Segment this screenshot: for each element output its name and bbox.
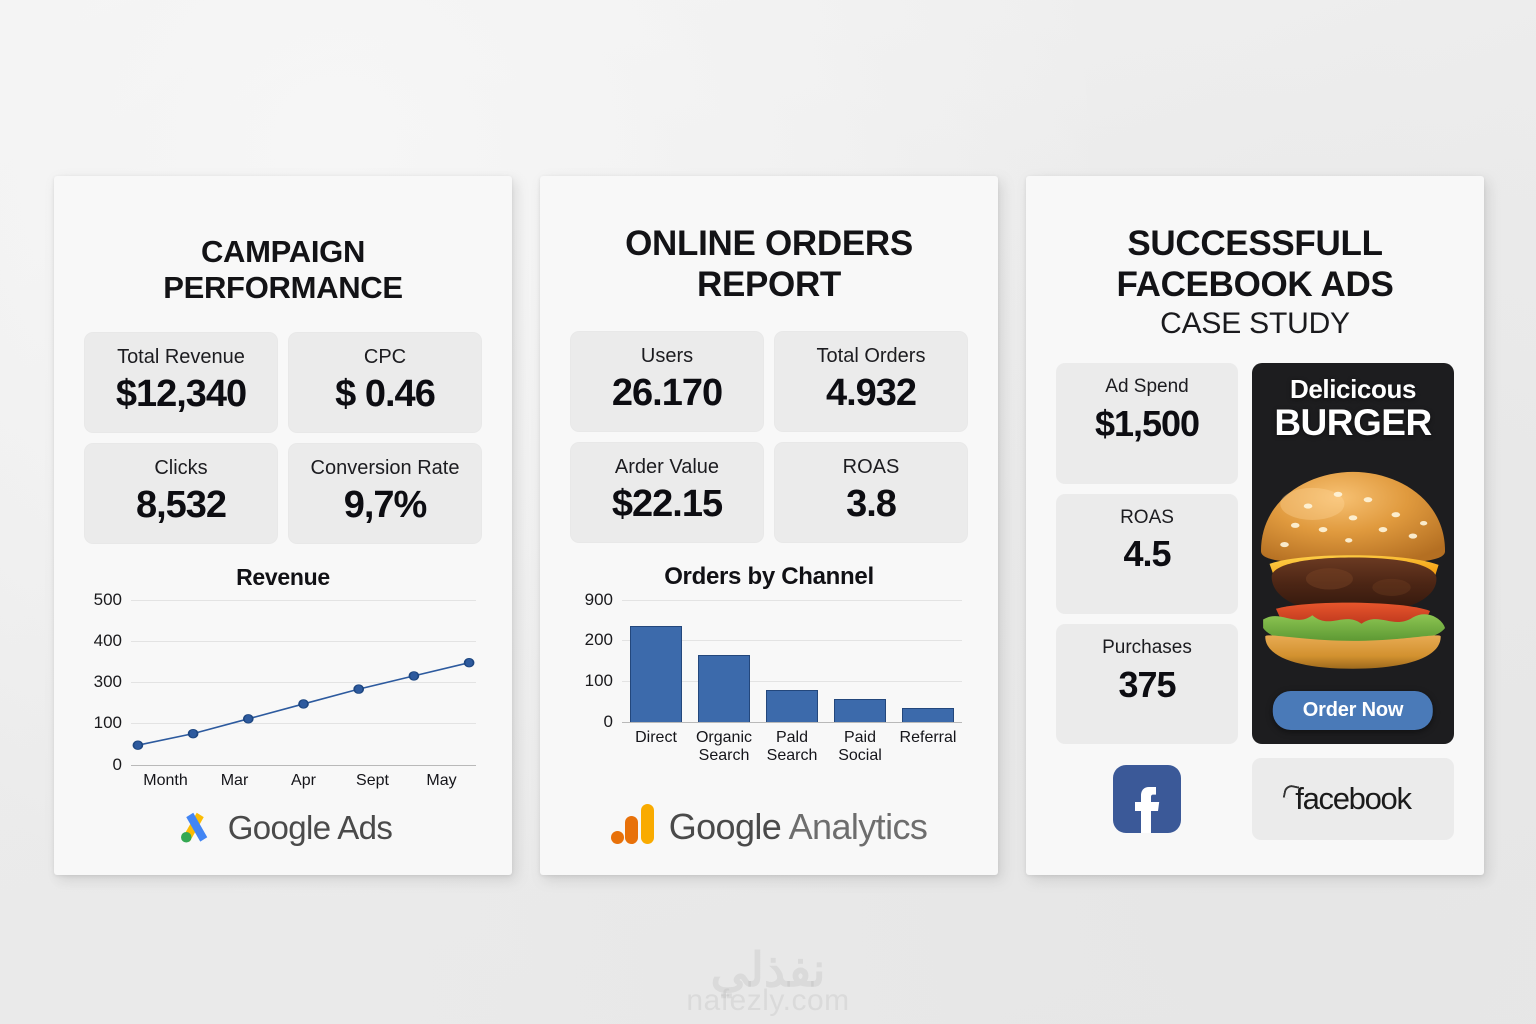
title-line-2: FACEBOOK ADS — [1116, 265, 1393, 304]
x-axis-tick: Apr — [269, 772, 338, 790]
facebook-wordmark-tile: facebook — [1252, 758, 1454, 840]
brand-label-light: Analytics — [781, 806, 927, 847]
kpi-grid-campaign: Total Revenue $12,340 CPC $ 0.46 Clicks … — [84, 332, 482, 544]
ad-headline-large: BURGER — [1274, 403, 1431, 444]
bar-slot — [894, 600, 962, 722]
kpi-roas: ROAS 4.5 — [1056, 494, 1238, 614]
brand-google-ads: Google Ads — [84, 804, 482, 861]
data-point — [409, 671, 418, 680]
kpi-clicks: Clicks 8,532 — [84, 443, 278, 544]
bar-slot — [690, 600, 758, 722]
bar-slot — [622, 600, 690, 722]
ad-headline-small: Delicicous — [1290, 376, 1416, 402]
watermark-latin: nafezly.com — [0, 984, 1536, 1018]
ad-creative-preview: Delicicous BURGER — [1252, 363, 1454, 744]
x-axis-tick: Sept — [338, 772, 407, 790]
x-axis-tick: Referral — [894, 729, 962, 765]
y-axis-tick: 500 — [94, 590, 131, 610]
bar-plot-area: 9002001000 — [622, 600, 962, 722]
revenue-line-chart: Revenue 5004003001000 MonthMarAprSeptMay — [84, 564, 482, 805]
chart-title: Revenue — [84, 564, 482, 591]
y-axis-tick: 300 — [94, 672, 131, 692]
x-axis-tick: OrganicSearch — [690, 729, 758, 765]
data-point — [133, 740, 142, 749]
x-axis-tick: May — [407, 772, 476, 790]
brand-label-bold: Google — [669, 806, 782, 847]
google-analytics-icon — [611, 802, 657, 851]
kpi-label: ROAS — [1062, 507, 1232, 530]
kpi-value: 4.5 — [1062, 534, 1232, 574]
kpi-value: $1,500 — [1062, 404, 1232, 444]
bar — [630, 626, 682, 722]
kpi-value: $ 0.46 — [294, 374, 476, 416]
kpi-value: $22.15 — [576, 484, 758, 526]
facebook-wordmark: facebook — [1295, 781, 1410, 817]
brand-google-analytics: Google Analytics — [570, 802, 968, 861]
bar-slot — [826, 600, 894, 722]
kpi-label: Ad Spend — [1062, 376, 1232, 399]
bar — [766, 690, 818, 722]
orders-bar-chart: Orders by Channel 9002001000 DirectOrgan… — [570, 563, 968, 802]
kpi-value: 375 — [1062, 665, 1232, 705]
card-online-orders-report: ONLINE ORDERS REPORT Users 26.170 Total … — [540, 176, 998, 875]
kpi-cpc: CPC $ 0.46 — [288, 332, 482, 433]
watermark: نفذلي nafezly.com — [0, 945, 1536, 1018]
kpi-value: 4.932 — [780, 373, 962, 415]
gridline: 0 — [622, 722, 962, 723]
kpi-label: Purchases — [1062, 637, 1232, 660]
kpi-value: 3.8 — [780, 484, 962, 526]
data-point — [465, 658, 474, 667]
kpi-roas: ROAS 3.8 — [774, 442, 968, 543]
x-axis-tick: Direct — [622, 729, 690, 765]
line-markers — [131, 600, 476, 765]
dashboard-cards-row: CAMPAIGN PERFORMANCE Total Revenue $12,3… — [54, 176, 1484, 876]
kpi-value: $12,340 — [90, 374, 272, 416]
y-axis-tick: 0 — [113, 755, 131, 775]
kpi-order-value: Arder Value $22.15 — [570, 442, 764, 543]
data-point — [299, 699, 308, 708]
order-now-button[interactable]: Order Now — [1273, 691, 1433, 730]
brand-label: Google Ads — [228, 809, 393, 847]
page-title: CAMPAIGN PERFORMANCE — [84, 234, 482, 306]
burger-photo — [1252, 459, 1454, 673]
title-line-1: ONLINE ORDERS — [625, 224, 913, 263]
facebook-footer: facebook — [1056, 758, 1454, 840]
google-ads-icon — [174, 804, 216, 851]
x-axis-tick: PaldSearch — [758, 729, 826, 765]
bar-slot — [758, 600, 826, 722]
bar-series — [622, 600, 962, 722]
kpi-conversion-rate: Conversion Rate 9,7% — [288, 443, 482, 544]
kpi-column-facebook: Ad Spend $1,500 ROAS 4.5 Purchases 375 — [1056, 363, 1238, 744]
kpi-label: Users — [576, 344, 758, 368]
data-point — [354, 684, 363, 693]
title-line-1: SUCCESSFULL — [1127, 224, 1382, 263]
page-title: SUCCESSFULL FACEBOOK ADS — [1056, 224, 1454, 305]
kpi-purchases: Purchases 375 — [1056, 624, 1238, 744]
kpi-label: Clicks — [90, 456, 272, 480]
kpi-label: Arder Value — [576, 455, 758, 479]
y-axis-tick: 0 — [604, 712, 622, 732]
y-axis-tick: 100 — [585, 671, 622, 691]
kpi-users: Users 26.170 — [570, 331, 764, 432]
bar-x-axis-labels: DirectOrganicSearchPaldSearchPaidSocialR… — [622, 729, 962, 765]
kpi-label: Conversion Rate — [294, 456, 476, 480]
bar — [834, 699, 886, 721]
data-point — [244, 714, 253, 723]
facebook-logo-icon — [1111, 763, 1183, 835]
y-axis-tick: 900 — [585, 590, 622, 610]
kpi-total-revenue: Total Revenue $12,340 — [84, 332, 278, 433]
gridline: 0 — [131, 765, 476, 766]
x-axis-tick: PaidSocial — [826, 729, 894, 765]
x-axis-tick: Month — [131, 772, 200, 790]
kpi-label: Total Orders — [780, 344, 962, 368]
kpi-total-orders: Total Orders 4.932 — [774, 331, 968, 432]
bar — [698, 655, 750, 722]
y-axis-tick: 200 — [585, 630, 622, 650]
y-axis-tick: 100 — [94, 713, 131, 733]
kpi-label: CPC — [294, 345, 476, 369]
line-plot-area: 5004003001000 — [131, 600, 476, 765]
kpi-value: 9,7% — [294, 485, 476, 527]
card-campaign-performance: CAMPAIGN PERFORMANCE Total Revenue $12,3… — [54, 176, 512, 875]
bar — [902, 708, 954, 721]
kpi-label: Total Revenue — [90, 345, 272, 369]
page-subtitle: CASE STUDY — [1056, 307, 1454, 341]
chart-title: Orders by Channel — [570, 563, 968, 591]
x-axis-tick: Mar — [200, 772, 269, 790]
y-axis-tick: 400 — [94, 631, 131, 651]
brand-label: Google Analytics — [669, 806, 928, 848]
line-x-axis-labels: MonthMarAprSeptMay — [131, 772, 476, 790]
card-facebook-ads-case-study: SUCCESSFULL FACEBOOK ADS CASE STUDY Ad S… — [1026, 176, 1484, 875]
watermark-arabic: نفذلي — [0, 945, 1536, 994]
kpi-ad-spend: Ad Spend $1,500 — [1056, 363, 1238, 483]
page-title: ONLINE ORDERS REPORT — [570, 224, 968, 305]
kpi-value: 8,532 — [90, 485, 272, 527]
facebook-logo-wrap — [1056, 763, 1238, 835]
data-point — [189, 729, 198, 738]
case-study-body: Ad Spend $1,500 ROAS 4.5 Purchases 375 D… — [1056, 363, 1454, 744]
title-line-2: REPORT — [697, 265, 841, 304]
kpi-grid-orders: Users 26.170 Total Orders 4.932 Arder Va… — [570, 331, 968, 543]
kpi-value: 26.170 — [576, 373, 758, 415]
kpi-label: ROAS — [780, 455, 962, 479]
